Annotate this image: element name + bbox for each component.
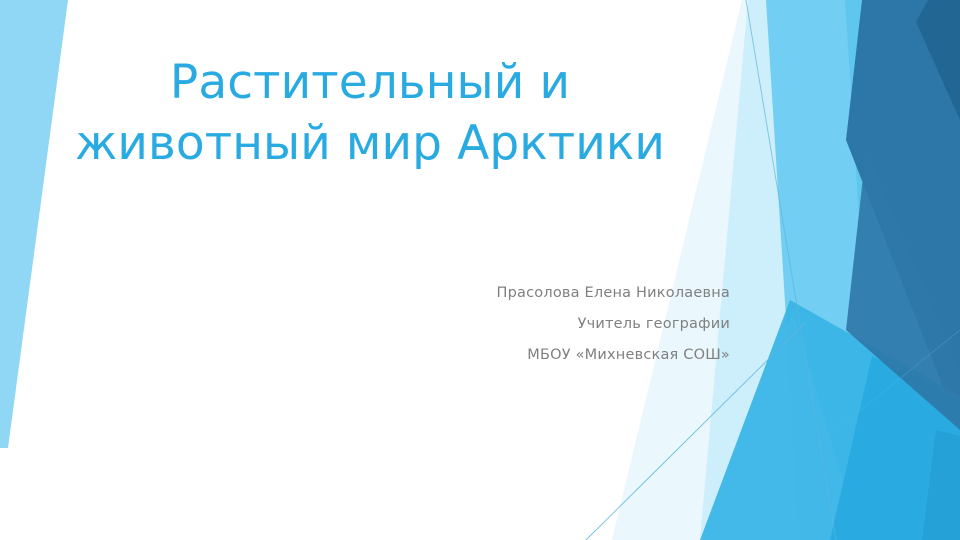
subtitle-line-role: Учитель географии [300,309,730,340]
subtitle-line-author: Прасолова Елена Николаевна [300,278,730,309]
subtitle-placeholder: Прасолова Елена Николаевна Учитель геогр… [300,278,730,372]
presentation-slide: Растительный и животный мир Арктики Прас… [0,0,960,540]
page-title: Растительный и животный мир Арктики [60,52,680,174]
slide-content: Растительный и животный мир Арктики Прас… [0,0,960,540]
subtitle-line-organization: МБОУ «Михневская СОШ» [300,340,730,371]
title-placeholder: Растительный и животный мир Арктики [60,52,680,174]
